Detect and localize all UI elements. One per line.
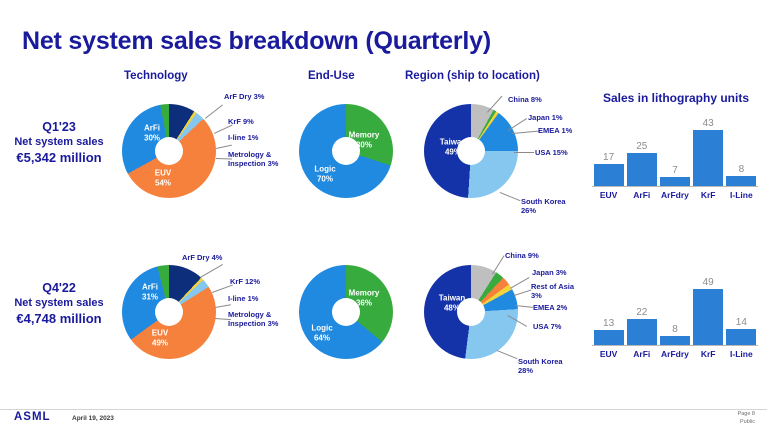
- sales-value: €4,748 million: [0, 311, 118, 326]
- chart-region-q1-2023: [424, 104, 518, 198]
- callout-japan: Japan 3%: [532, 268, 567, 277]
- bar-category: ArFi: [627, 349, 657, 359]
- callout-china: China 8%: [508, 95, 542, 104]
- callout-krf: KrF 9%: [228, 117, 254, 126]
- callout-south-korea: South Korea 28%: [518, 357, 568, 375]
- column-header-litho-units: Sales in lithography units: [596, 91, 756, 106]
- bar-category: EUV: [594, 349, 624, 359]
- callout-emea: EMEA 2%: [533, 303, 567, 312]
- slice-label-euv: EUV49%: [152, 329, 168, 348]
- bar-value: 8: [672, 324, 678, 335]
- callout-i-line: I-line 1%: [228, 133, 258, 142]
- leader-line-arf-dry: [205, 104, 223, 118]
- bar-series: 17 25 7 43 8: [592, 122, 758, 186]
- bar-value: 7: [672, 165, 678, 176]
- leader-line-china: [492, 255, 505, 274]
- column-header-enduse: End-Use: [308, 70, 355, 82]
- bar-rect: [627, 319, 657, 345]
- bar-value: 14: [736, 317, 747, 328]
- row-label-q1-2023: Q1'23 Net system sales €5,342 million: [0, 120, 118, 165]
- callout-i-line: I-line 1%: [228, 294, 258, 303]
- slide-canvas: Net system sales breakdown (Quarterly) T…: [0, 0, 767, 432]
- slice-label-taiwan: Taiwan48%: [439, 294, 466, 313]
- bar-category: I-Line: [726, 349, 756, 359]
- bar-item: 17: [594, 152, 624, 186]
- chart-technology-q4-2022: [122, 265, 216, 359]
- callout-krf: KrF 12%: [230, 277, 260, 286]
- callout-emea: EMEA 1%: [538, 126, 572, 135]
- callout-china: China 9%: [505, 251, 539, 260]
- quarter-label: Q4'22: [0, 281, 118, 296]
- bar-rect: [660, 336, 690, 345]
- chart-litho-units-q4-2022: 13 22 8 49 14 EUV ArFi ArFd: [592, 281, 758, 359]
- leader-line-rest-of-asia: [514, 289, 531, 296]
- bar-rect: [693, 289, 723, 345]
- slice-label-logic: Logic64%: [311, 324, 332, 343]
- quarter-label: Q1'23: [0, 120, 118, 135]
- bar-category: I-Line: [726, 190, 756, 200]
- footer-date: April 19, 2023: [72, 415, 114, 422]
- slice-label-memory: Memory36%: [349, 289, 380, 308]
- asml-logo: ASML: [14, 411, 51, 423]
- callout-south-korea: South Korea 26%: [521, 197, 571, 215]
- leader-line-emea: [512, 131, 540, 134]
- bar-series: 13 22 8 49 14: [592, 281, 758, 345]
- slice-label-taiwan: Taiwan49%: [440, 138, 467, 157]
- bar-category: KrF: [693, 349, 723, 359]
- column-header-technology: Technology: [124, 70, 188, 82]
- bar-category: ArFi: [627, 190, 657, 200]
- page-number: Page 8: [738, 410, 755, 418]
- bar-rect: [594, 330, 624, 345]
- chart-enduse-q4-2022: [299, 265, 393, 359]
- bar-item: 49: [693, 277, 723, 345]
- bar-category: ArFdry: [660, 349, 690, 359]
- classification-label: Public: [738, 418, 755, 426]
- bar-value: 17: [603, 152, 614, 163]
- bar-item: 8: [726, 164, 756, 186]
- sales-value: €5,342 million: [0, 150, 118, 165]
- bar-rect: [594, 164, 624, 186]
- bar-value: 8: [739, 164, 745, 175]
- leader-line-japan: [510, 277, 530, 289]
- callout-usa: USA 15%: [535, 148, 568, 157]
- bar-rect: [726, 329, 756, 345]
- leader-line-japan: [508, 118, 527, 131]
- bar-value: 49: [703, 277, 714, 288]
- chart-litho-units-q1-2023: 17 25 7 43 8 EUV ArFi ArFdr: [592, 122, 758, 200]
- slice-label-memory: Memory30%: [349, 131, 380, 150]
- callout-rest-of-asia: Rest of Asia 3%: [531, 282, 575, 300]
- leader-line-south-korea: [500, 192, 521, 201]
- bar-axis-line: [592, 345, 758, 346]
- bar-item: 22: [627, 307, 657, 345]
- column-header-region: Region (ship to location): [405, 70, 540, 82]
- bar-item: 43: [693, 118, 723, 186]
- bar-item: 25: [627, 141, 657, 186]
- bar-category: EUV: [594, 190, 624, 200]
- slice-label-logic: Logic70%: [314, 165, 335, 184]
- bar-axis-line: [592, 186, 758, 187]
- bar-item: 13: [594, 318, 624, 345]
- slice-label-euv: EUV54%: [155, 169, 171, 188]
- bar-item: 14: [726, 317, 756, 345]
- bar-rect: [660, 177, 690, 186]
- callout-usa: USA 7%: [533, 322, 561, 331]
- bar-rect: [726, 176, 756, 186]
- donut-hole: [155, 298, 183, 326]
- slice-label-arfi: ArFi31%: [142, 283, 158, 302]
- leader-line-arf-dry: [200, 264, 223, 278]
- leader-line-usa: [514, 152, 534, 153]
- bar-value: 13: [603, 318, 614, 329]
- page-title: Net system sales breakdown (Quarterly): [22, 27, 491, 56]
- callout-metrology: Metrology & Inspection 3%: [228, 150, 286, 168]
- bar-rect: [693, 130, 723, 186]
- callout-arf-dry: ArF Dry 3%: [224, 92, 264, 101]
- row-label-q4-2022: Q4'22 Net system sales €4,748 million: [0, 281, 118, 326]
- callout-arf-dry: ArF Dry 4%: [182, 253, 222, 262]
- slice-label-arfi: ArFi30%: [144, 124, 160, 143]
- sales-caption: Net system sales: [0, 135, 118, 150]
- callout-japan: Japan 1%: [528, 113, 563, 122]
- bar-category: ArFdry: [660, 190, 690, 200]
- sales-caption: Net system sales: [0, 296, 118, 311]
- callout-metrology: Metrology & Inspection 3%: [228, 310, 286, 328]
- leader-line-i-line: [215, 304, 231, 308]
- bar-value: 43: [703, 118, 714, 129]
- chart-enduse-q1-2023: [299, 104, 393, 198]
- bar-rect: [627, 153, 657, 186]
- bar-item: 8: [660, 324, 690, 345]
- bar-item: 7: [660, 165, 690, 186]
- leader-line-south-korea: [497, 350, 518, 359]
- footer-divider: [0, 409, 767, 410]
- bar-value: 25: [636, 141, 647, 152]
- bar-category: KrF: [693, 190, 723, 200]
- bar-category-labels: EUV ArFi ArFdry KrF I-Line: [592, 190, 758, 200]
- bar-category-labels: EUV ArFi ArFdry KrF I-Line: [592, 349, 758, 359]
- leader-line-i-line: [216, 145, 232, 149]
- bar-value: 22: [636, 307, 647, 318]
- footer-page-info: Page 8 Public: [738, 410, 755, 426]
